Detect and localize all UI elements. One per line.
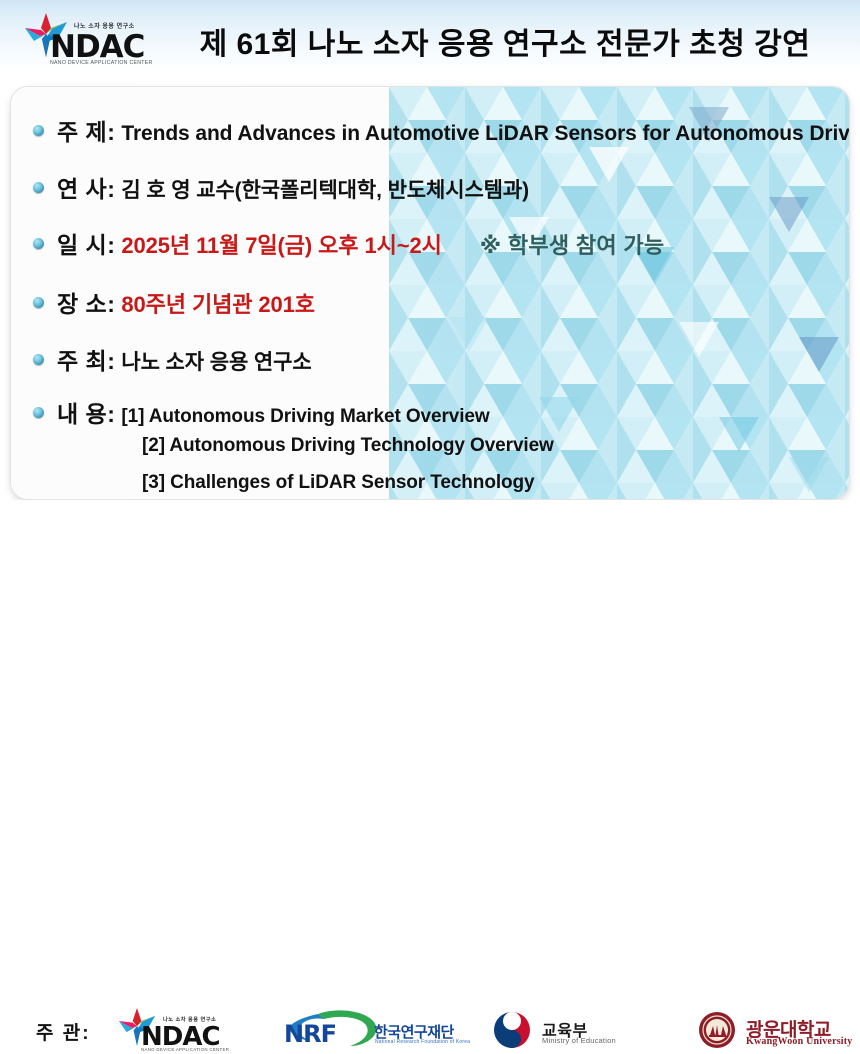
contents-line-2: [2] Autonomous Driving Technology Overvi… (142, 435, 554, 457)
bullet-icon (33, 125, 44, 136)
undergraduate-welcome-note: ※ 학부생 참여 가능 (480, 228, 665, 260)
kwangwoon-english-name: KwangWoon University (746, 1036, 853, 1047)
info-row-value: [1] Autonomous Driving Market Overview (121, 406, 489, 428)
footer-label: 주 관: (36, 1018, 91, 1045)
info-row-value: 2025년 11월 7일(금) 오후 1시~2시 (121, 228, 441, 260)
info-row-label: 주 제: (57, 113, 115, 147)
ndac-subtitle: NANO DEVICE APPLICATION CENTER (141, 1047, 229, 1052)
info-row-label: 장 소: (57, 285, 115, 319)
info-row-value: 김 호 영 교수(한국폴리텍대학, 반도체시스템과) (121, 174, 529, 204)
nrf-wordmark: NRF (284, 1020, 336, 1048)
kwangwoon-university-logo: 광운대학교 KwangWoon University (698, 1009, 858, 1051)
info-row-contents: 내 용: [1] Autonomous Driving Market Overv… (33, 395, 490, 429)
header-banner: 나노 소자 응용 연구소 NDAC NANO DEVICE APPLICATIO… (0, 0, 860, 85)
moe-english-name: Ministry of Education (542, 1036, 616, 1045)
ministry-of-education-logo: 교육부 Ministry of Education (492, 1009, 622, 1051)
info-row-datetime: 일 시: 2025년 11월 7일(금) 오후 1시~2시 ※ 학부생 참여 가… (33, 226, 664, 260)
bullet-icon (33, 354, 44, 365)
bullet-icon (33, 297, 44, 308)
info-row-value: 80주년 기념관 201호 (121, 287, 315, 319)
nrf-english-name: National Research Foundation of Korea (375, 1039, 470, 1045)
nrf-logo: NRF 한국연구재단 National Research Foundation … (280, 1008, 450, 1052)
ndac-logo: 나노 소자 응용 연구소 NDAC NANO DEVICE APPLICATIO… (24, 10, 164, 68)
info-row-value: 나노 소자 응용 연구소 (121, 346, 311, 376)
info-row-subject: 주 제: Trends and Advances in Automotive L… (33, 113, 850, 147)
info-row-value: Trends and Advances in Automotive LiDAR … (121, 122, 850, 146)
ndac-subtitle: NANO DEVICE APPLICATION CENTER (50, 60, 153, 66)
bullet-icon (33, 182, 44, 193)
poster-card: 주 제: Trends and Advances in Automotive L… (10, 86, 850, 500)
info-row-label: 일 시: (57, 226, 115, 260)
contents-line-3: [3] Challenges of LiDAR Sensor Technolog… (142, 472, 534, 494)
info-row-label: 내 용: (57, 395, 115, 429)
info-row-list: 주 제: Trends and Advances in Automotive L… (11, 87, 849, 499)
footer-sponsor-bar: 주 관: 나노 소자 응용 연구소 NDAC NANO DEVICE APPLI… (0, 500, 860, 559)
info-row-label: 연 사: (57, 170, 115, 204)
info-row-speaker: 연 사: 김 호 영 교수(한국폴리텍대학, 반도체시스템과) (33, 170, 529, 204)
bullet-icon (33, 407, 44, 418)
ndac-logo: 나노 소자 응용 연구소 NDAC NANO DEVICE APPLICATIO… (118, 1006, 238, 1054)
kwangwoon-seal-icon (698, 1011, 736, 1049)
info-row-label: 주 최: (57, 342, 115, 376)
info-row-venue: 장 소: 80주년 기념관 201호 (33, 285, 315, 319)
bullet-icon (33, 238, 44, 249)
info-row-host: 주 최: 나노 소자 응용 연구소 (33, 342, 312, 376)
page-title: 제 61회 나노 소자 응용 연구소 전문가 초청 강연 (160, 14, 850, 68)
taegeuk-icon (492, 1010, 532, 1050)
